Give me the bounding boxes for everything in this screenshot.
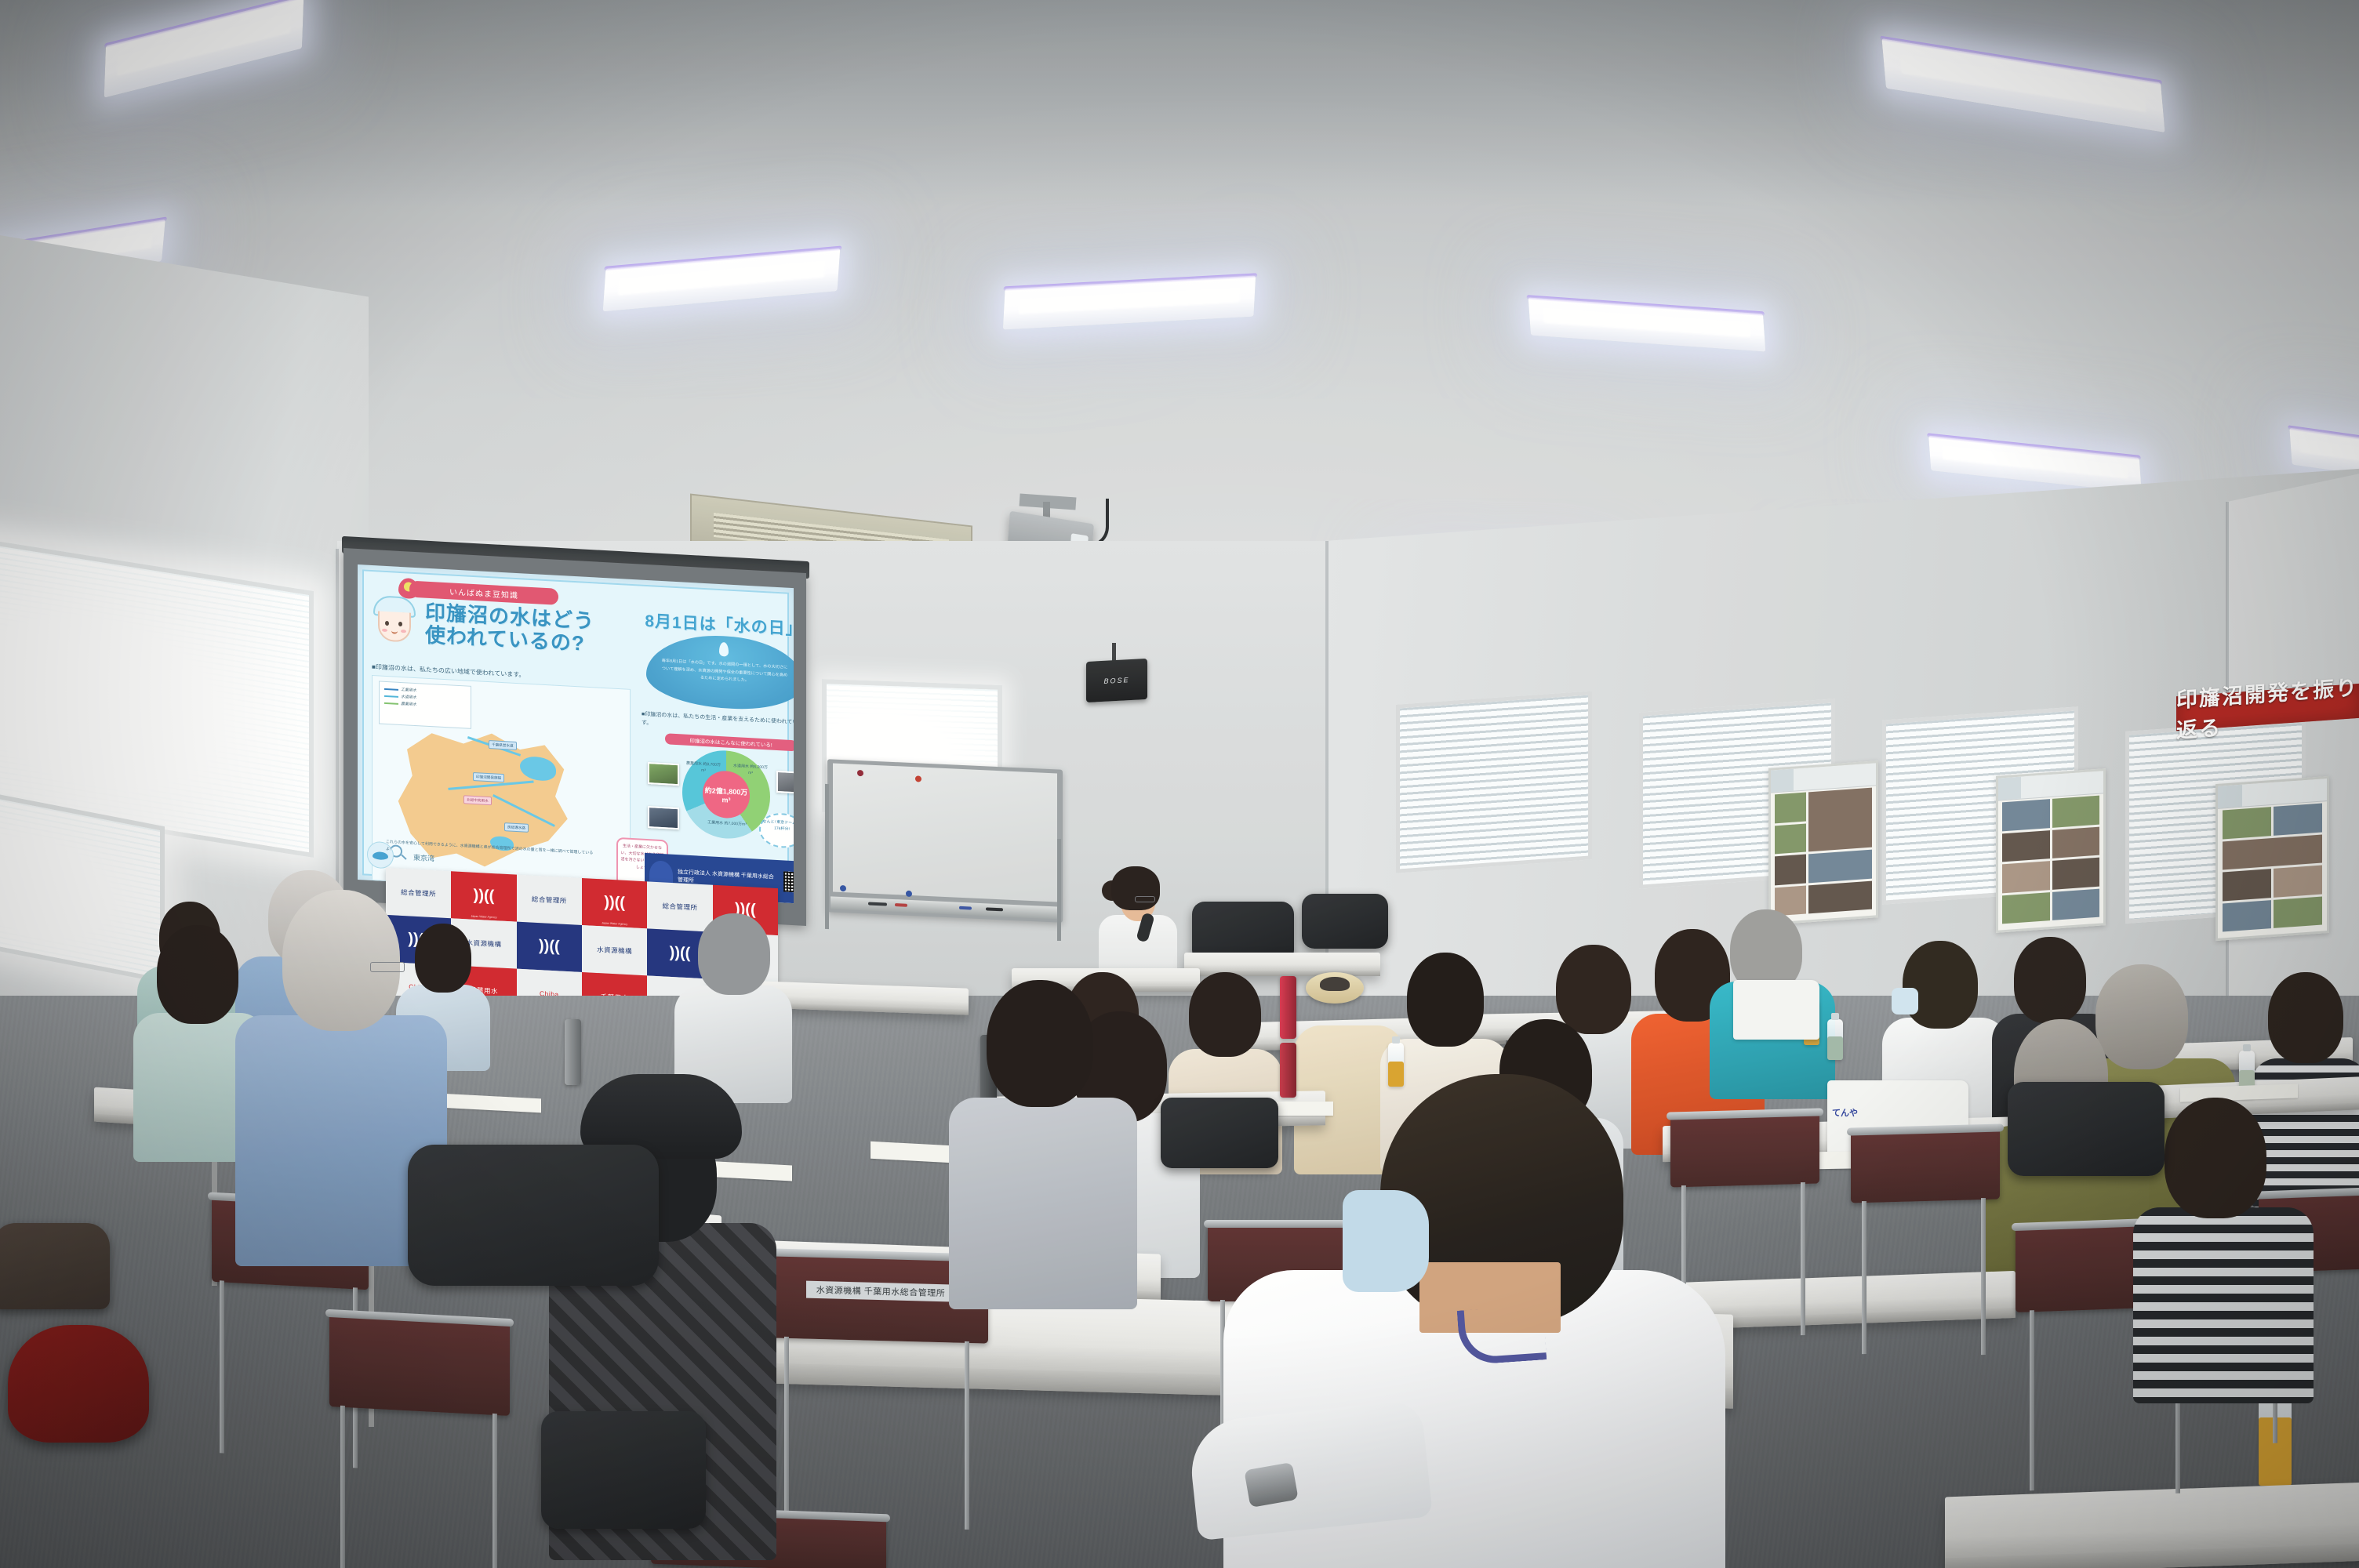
marker-pen [959, 906, 972, 910]
chair-leg [1981, 1198, 1986, 1355]
water-day-text: 毎年8月1日は「水の日」です。水の週間の一環として、水の大切さについて理解を深め… [660, 658, 789, 688]
map-tag: 千葉県営水道 [489, 740, 517, 750]
chair-leg [965, 1341, 969, 1530]
poster-photo [2002, 861, 2049, 893]
map-tag: 印旛沼開発施設 [473, 772, 504, 782]
face-mask [1343, 1190, 1429, 1292]
poster-photo [2002, 830, 2049, 862]
foreground-attendee-white-polo [1223, 1074, 1725, 1568]
backdrop-tile: ))((Japan Water Agency [451, 871, 516, 921]
donut-center-value: 約2億1,800万m³ [703, 770, 750, 819]
poster-photo-grid [1775, 788, 1871, 916]
whiteboard-leg [1057, 839, 1061, 941]
slide-thumbnail-photo [776, 771, 794, 794]
floor-backpack-black [408, 1145, 659, 1286]
map-legend: 工業用水 水道用水 農業用水 [379, 681, 471, 728]
floor-bag-black [541, 1411, 706, 1529]
whiteboard-surface [833, 764, 1057, 902]
seminar-room-photo: 印旛沼開発を振り返る [0, 0, 2359, 1568]
av-equipment-case [1302, 894, 1388, 949]
person-torso [949, 1098, 1137, 1309]
agency-logo-icon: ))(( [539, 938, 560, 956]
audience-member [674, 913, 792, 1094]
red-thermos [1280, 976, 1296, 1039]
poster-photo [2002, 892, 2049, 924]
chair-leg [340, 1406, 345, 1568]
backdrop-tile: 水資源機構 [582, 925, 647, 975]
poster-photo [2223, 834, 2323, 870]
map-tag: 北総中央用水 [463, 795, 492, 805]
poster-photo [2052, 888, 2099, 920]
whiteboard-leg [825, 784, 829, 929]
person-head [1407, 953, 1484, 1047]
presenter-glasses [1135, 896, 1155, 902]
person-head [282, 890, 400, 1031]
slide-badge-text: いんばぬま豆知識 [449, 585, 518, 601]
slide-thumbnail-photo [648, 762, 679, 786]
speaker-brand-label: BOSE [1103, 676, 1129, 685]
wall-banner-inbanuma: 印旛沼開発を振り返る [2176, 684, 2359, 731]
magnet-blue [906, 891, 912, 897]
wall-banner-text: 印旛沼開発を振り返る [2176, 670, 2359, 744]
poster-photo [1775, 793, 1805, 823]
poster-photo [1775, 823, 1805, 854]
poster-photo-grid [2223, 804, 2323, 932]
chair-leg [1801, 1182, 1805, 1335]
chair-leg [493, 1414, 497, 1568]
legend-label: 工業用水 [401, 688, 416, 693]
person-head [2165, 1098, 2266, 1218]
person-head [1903, 941, 1978, 1029]
donut-segment-label: 農業用水 約8,700万m³ [685, 761, 722, 775]
backdrop-tile: ))(( [517, 922, 582, 972]
poster-photo [1808, 850, 1872, 883]
floor-bag-black [1161, 1098, 1278, 1168]
person-head [157, 925, 238, 1024]
person-head [987, 980, 1093, 1107]
chair-leg [2030, 1310, 2034, 1490]
poster-photo [2052, 858, 2099, 890]
chair-leg [784, 1337, 789, 1517]
table-foreground-right [1945, 1483, 2359, 1568]
plastic-shopping-bag [1733, 980, 1819, 1040]
agency-logo-icon: ))(( [604, 894, 625, 913]
chair-label-text: 水資源機構 千葉用水総合管理所 [816, 1283, 946, 1299]
poster-photo [2002, 799, 2049, 831]
backdrop-tile-text: 総合管理所 [662, 902, 697, 912]
person-head [698, 913, 770, 995]
poster-photo [2223, 807, 2271, 839]
floor-backpack-red [8, 1325, 149, 1443]
chair[interactable] [1851, 1127, 2000, 1203]
donut-segment-label: 水道用水 約6,200万m³ [732, 764, 769, 777]
poster-photo [2052, 796, 2099, 828]
face-mask [1892, 988, 1918, 1014]
legend-label: 水道用水 [401, 695, 416, 700]
marker-pen [895, 903, 907, 907]
whiteboard [827, 759, 1063, 923]
wall-poster-1 [1768, 760, 1878, 925]
slide-thumbnail-photo [648, 806, 679, 829]
agency-logo-icon: ))(( [474, 887, 495, 906]
map-tag: 房総導水路 [504, 822, 529, 833]
wall-poster-3 [2215, 776, 2329, 941]
magnet-red [915, 775, 921, 782]
window-blinds [1400, 695, 1588, 869]
presenter-hair [1111, 866, 1160, 910]
poster-photo [1808, 788, 1872, 852]
bag-logo-text: てんや [1832, 1106, 1858, 1119]
chair-back[interactable] [1851, 1127, 2000, 1203]
person-glasses [370, 962, 405, 972]
backdrop-tile-text: 水資源機構 [597, 946, 632, 956]
poster-photo [2274, 866, 2322, 898]
projector-cable [1074, 499, 1109, 547]
qr-code-icon [783, 871, 794, 892]
poster-photo [1775, 855, 1805, 885]
chair-back[interactable] [329, 1312, 510, 1416]
backdrop-tile: ))((Japan Water Agency [582, 878, 647, 928]
floor-bag-brown [0, 1223, 110, 1309]
poster-photo-grid [2002, 796, 2099, 924]
wall-poster-2 [1996, 768, 2106, 933]
poster-photo [2052, 826, 2099, 858]
magnet-blue [840, 885, 846, 891]
beverage-bottle [1827, 1019, 1843, 1060]
person-torso [2133, 1207, 2314, 1403]
chair-leg [220, 1280, 224, 1453]
backdrop-tile: 総合管理所 [517, 875, 582, 925]
presenter [1094, 866, 1180, 984]
audience-member [949, 980, 1137, 1309]
poster-photo [2274, 804, 2322, 836]
poster-photo [2223, 900, 2271, 932]
person-head [2268, 972, 2343, 1063]
poster-photo [2223, 869, 2271, 901]
backdrop-tile-text: 総合管理所 [532, 895, 567, 906]
chair[interactable] [329, 1312, 510, 1416]
bose-wall-speaker: BOSE [1086, 659, 1147, 702]
legend-label: 農業用水 [401, 702, 416, 707]
right-window-1 [1396, 691, 1592, 873]
chair-leg [1862, 1201, 1866, 1354]
poster-photo [2274, 896, 2322, 928]
floor-bag-black [2008, 1082, 2165, 1176]
water-drop-icon [719, 642, 729, 657]
mascot-character-icon [372, 595, 417, 646]
magnet-red [857, 770, 863, 776]
slide-surface: いんばぬま豆知識 印旛沼の水はどう 使われているの? ■印旛沼の水は、私たちの広… [358, 564, 794, 903]
